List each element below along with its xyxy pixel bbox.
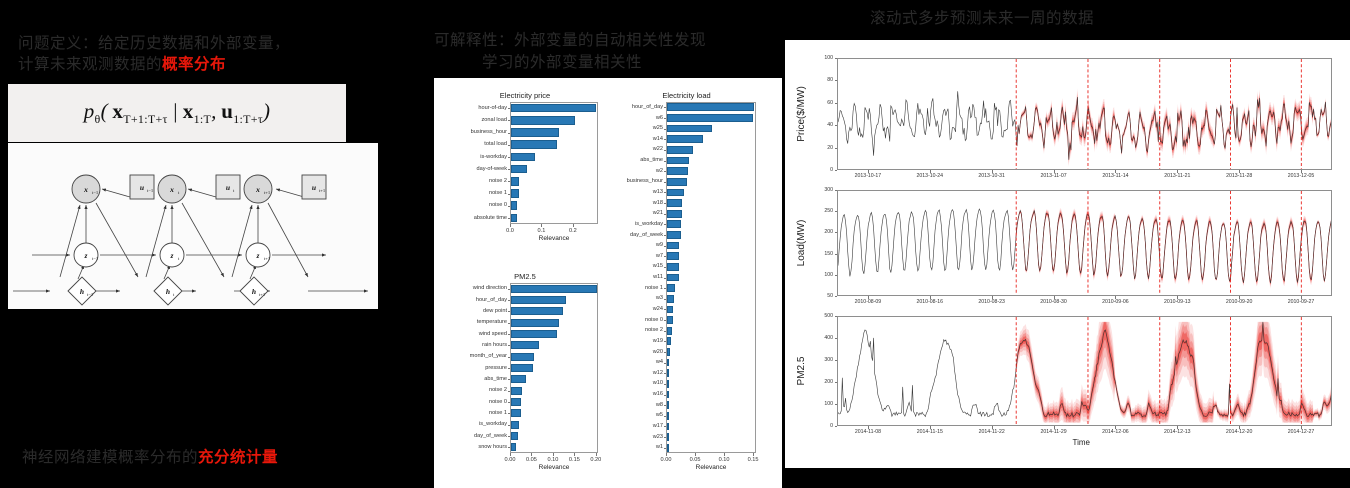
- y-tick-label: 80: [815, 77, 833, 83]
- category-label: absolute time: [452, 215, 507, 221]
- tick-mark: [835, 275, 838, 276]
- x-tick-label: 2014-11-29: [1034, 429, 1074, 435]
- bar: [511, 421, 519, 429]
- tick-mark: [508, 157, 510, 158]
- tick-mark: [835, 80, 838, 81]
- category-label: zonal load: [452, 117, 507, 123]
- tick-mark: [835, 254, 838, 255]
- relevance-panel: 可解释性：外部变量的自动相关性发现 学习的外部变量相关性 Electricity…: [420, 0, 785, 488]
- tick-mark: [664, 203, 666, 204]
- problem-definition-line2-highlight: 概率分布: [162, 56, 226, 73]
- sufficient-statistics-caption: 神经网络建模概率分布的充分统计量: [22, 447, 278, 468]
- tick-mark: [508, 402, 510, 403]
- category-label: w21: [617, 210, 663, 216]
- category-label: noise 0: [452, 202, 507, 208]
- bar: [667, 103, 754, 111]
- chart-title: Electricity price: [452, 91, 598, 100]
- category-label: rain hours: [452, 342, 507, 348]
- bar: [667, 412, 669, 420]
- problem-definition-line1: 问题定义：给定历史数据和外部变量，: [18, 33, 290, 54]
- tick-mark: [835, 316, 838, 317]
- category-label: w23: [617, 434, 663, 440]
- plot-area: [837, 316, 1332, 426]
- bar: [667, 231, 681, 239]
- problem-definition-line2-plain: 计算未来观测数据的: [18, 56, 162, 73]
- tick-mark: [664, 118, 666, 119]
- category-label: w18: [617, 200, 663, 206]
- tick-mark: [508, 447, 510, 448]
- x-tick-label: 0.05: [684, 457, 706, 463]
- tick-mark: [664, 373, 666, 374]
- tick-mark: [835, 190, 838, 191]
- tick-mark: [664, 192, 666, 193]
- category-label: noise 1: [452, 190, 507, 196]
- tick-mark: [835, 360, 838, 361]
- chart-title: PM2.5: [452, 272, 598, 281]
- category-label: w2: [617, 168, 663, 174]
- bar: [511, 319, 559, 327]
- tick-mark: [510, 453, 511, 456]
- tick-mark: [835, 103, 838, 104]
- bar: [511, 189, 519, 198]
- x-tick-label: 2010-09-06: [1095, 299, 1135, 305]
- bar: [511, 330, 557, 338]
- bar: [511, 177, 519, 186]
- bar: [511, 307, 563, 315]
- category-label: month_of_year: [452, 353, 507, 359]
- svg-text:t+1: t+1: [259, 292, 266, 297]
- x-tick-label: 2013-10-24: [910, 173, 950, 179]
- x-tick-label: 2014-11-15: [910, 429, 950, 435]
- category-label: is-workday: [452, 154, 507, 160]
- tick-mark: [508, 145, 510, 146]
- x-tick-label: 2013-11-28: [1219, 173, 1259, 179]
- relevance-charts-figure: Electricity pricehour-of-dayzonal loadbu…: [434, 78, 782, 488]
- bar: [511, 116, 575, 125]
- tick-mark: [664, 150, 666, 151]
- category-label: w25: [617, 125, 663, 131]
- y-axis-label: Price($/MW): [796, 86, 807, 142]
- bar: [667, 380, 669, 388]
- category-label: hour_of_day: [452, 297, 507, 303]
- bar: [667, 444, 669, 452]
- rolling-forecast-heading: 滚动式多步预测未来一周的数据: [870, 8, 1094, 29]
- tick-mark: [664, 384, 666, 385]
- category-label: noise 2: [452, 387, 507, 393]
- bar: [511, 296, 566, 304]
- y-tick-label: 20: [815, 145, 833, 151]
- x-tick-label: 2014-11-08: [848, 429, 888, 435]
- x-axis-label: Time: [1073, 438, 1090, 447]
- y-tick-label: 0: [815, 423, 833, 429]
- y-tick-label: 200: [815, 379, 833, 385]
- category-label: noise 1: [617, 285, 663, 291]
- tick-mark: [664, 352, 666, 353]
- tick-mark: [508, 108, 510, 109]
- svg-text:t+1: t+1: [319, 188, 326, 193]
- tick-mark: [508, 133, 510, 134]
- bar: [667, 316, 673, 324]
- bar: [667, 263, 679, 271]
- category-label: w16: [617, 391, 663, 397]
- category-label: w8: [617, 402, 663, 408]
- svg-text:u: u: [312, 183, 316, 192]
- bar: [667, 327, 672, 335]
- svg-text:x: x: [83, 185, 88, 194]
- y-axis-label: PM2.5: [796, 357, 807, 386]
- y-tick-label: 300: [815, 357, 833, 363]
- category-label: w12: [617, 370, 663, 376]
- category-label: abs_time: [617, 157, 663, 163]
- x-tick-label: 2014-12-20: [1219, 429, 1259, 435]
- x-tick-label: 0.15: [563, 457, 585, 463]
- bar: [667, 157, 689, 165]
- svg-text:h: h: [252, 287, 256, 296]
- plot-area: [837, 190, 1332, 296]
- category-label: snow hours: [452, 444, 507, 450]
- bar: [511, 398, 521, 406]
- bar: [511, 140, 557, 149]
- category-label: abs_time: [452, 376, 507, 382]
- tick-mark: [664, 309, 666, 310]
- category-label: w4: [617, 359, 663, 365]
- x-tick-label: 0.00: [499, 457, 521, 463]
- bar: [667, 295, 674, 303]
- x-tick-label: 2014-12-06: [1095, 429, 1135, 435]
- bar: [667, 189, 684, 197]
- tick-mark: [835, 426, 838, 427]
- tick-mark: [508, 218, 510, 219]
- tick-mark: [664, 405, 666, 406]
- tick-mark: [835, 58, 838, 59]
- bar: [667, 391, 669, 399]
- tick-mark: [835, 232, 838, 233]
- category-label: w10: [617, 380, 663, 386]
- tick-mark: [835, 296, 838, 297]
- formula-image: pθ( xT+1:T+τ | x1:T, u1:T+τ): [8, 84, 346, 142]
- tick-mark: [664, 278, 666, 279]
- category-label: w22: [617, 146, 663, 152]
- x-tick-label: 0.0: [499, 228, 521, 234]
- x-tick-label: 0.00: [655, 457, 677, 463]
- x-axis-label: Relevance: [510, 464, 598, 471]
- bar: [667, 199, 682, 207]
- svg-text:h: h: [166, 287, 170, 296]
- category-label: noise 2: [617, 327, 663, 333]
- category-label: pressure: [452, 365, 507, 371]
- tick-mark: [664, 363, 666, 364]
- bar: [511, 341, 539, 349]
- bar: [667, 135, 703, 143]
- problem-definition-text: 问题定义：给定历史数据和外部变量， 计算未来观测数据的概率分布: [18, 33, 290, 75]
- y-axis-label: Load(MW): [796, 220, 807, 267]
- graphical-model-svg: xxx zzz hhh uuu t−1tt+1 t−1tt+1 t−1tt+1 …: [8, 143, 378, 309]
- category-label: total load: [452, 141, 507, 147]
- tick-mark: [664, 320, 666, 321]
- bar: [511, 153, 535, 162]
- bar: [667, 369, 669, 377]
- category-label: is_workday: [617, 221, 663, 227]
- category-label: noise 0: [452, 399, 507, 405]
- tick-mark: [508, 289, 510, 290]
- tick-mark: [664, 437, 666, 438]
- tick-mark: [553, 453, 554, 456]
- svg-text:u: u: [226, 183, 230, 192]
- y-tick-label: 400: [815, 335, 833, 341]
- bar: [511, 432, 518, 440]
- tick-mark: [573, 224, 574, 227]
- tick-mark: [664, 235, 666, 236]
- tick-mark: [695, 453, 696, 456]
- tick-mark: [664, 267, 666, 268]
- category-label: is_workday: [452, 421, 507, 427]
- category-label: day_of_week: [617, 232, 663, 238]
- bar: [667, 359, 669, 367]
- bar: [667, 401, 669, 409]
- y-tick-label: 100: [815, 55, 833, 61]
- bar: [667, 284, 675, 292]
- category-label: hour_of_day: [617, 104, 663, 110]
- plot-area: [666, 102, 756, 453]
- bar: [511, 285, 597, 293]
- tick-mark: [508, 345, 510, 346]
- x-tick-label: 2013-11-21: [1157, 173, 1197, 179]
- x-tick-label: 2014-12-13: [1157, 429, 1197, 435]
- bar: [667, 125, 712, 133]
- tick-mark: [835, 404, 838, 405]
- x-tick-label: 2013-10-17: [848, 173, 888, 179]
- series-svg: [838, 59, 1332, 170]
- caption-plain: 神经网络建模概率分布的: [22, 449, 198, 466]
- tick-mark: [835, 382, 838, 383]
- svg-text:h: h: [80, 287, 84, 296]
- tick-mark: [596, 453, 597, 456]
- category-label: day-of-week: [452, 166, 507, 172]
- tick-mark: [664, 171, 666, 172]
- tick-mark: [508, 120, 510, 121]
- category-label: noise 1: [452, 410, 507, 416]
- tick-mark: [664, 416, 666, 417]
- category-label: temperature: [452, 319, 507, 325]
- category-label: w6: [617, 115, 663, 121]
- category-label: noise 2: [452, 178, 507, 184]
- x-tick-label: 0.2: [562, 228, 584, 234]
- tick-mark: [664, 288, 666, 289]
- x-tick-label: 2014-12-27: [1281, 429, 1321, 435]
- category-label: wind speed: [452, 331, 507, 337]
- y-tick-label: 60: [815, 100, 833, 106]
- category-label: wind direction: [452, 285, 507, 291]
- tick-mark: [508, 368, 510, 369]
- tick-mark: [664, 341, 666, 342]
- y-tick-label: 0: [815, 167, 833, 173]
- x-tick-label: 0.05: [520, 457, 542, 463]
- svg-text:t+1: t+1: [264, 190, 271, 195]
- problem-definition-line2: 计算未来观测数据的概率分布: [18, 54, 290, 75]
- y-tick-label: 300: [815, 187, 833, 193]
- tick-mark: [508, 300, 510, 301]
- bar: [511, 443, 516, 451]
- svg-text:t−1: t−1: [87, 292, 94, 297]
- x-tick-label: 2010-08-09: [848, 299, 888, 305]
- tick-mark: [664, 139, 666, 140]
- category-label: w11: [617, 274, 663, 280]
- category-label: business_hour: [452, 129, 507, 135]
- x-axis-label: Relevance: [666, 464, 756, 471]
- x-tick-label: 2013-10-31: [972, 173, 1012, 179]
- svg-text:z: z: [84, 251, 88, 260]
- x-tick-label: 2010-08-23: [972, 299, 1012, 305]
- bar: [511, 214, 517, 223]
- svg-text:x: x: [255, 185, 260, 194]
- category-label: w19: [617, 338, 663, 344]
- tick-mark: [835, 338, 838, 339]
- y-tick-label: 500: [815, 313, 833, 319]
- probability-formula: pθ( xT+1:T+τ | x1:T, u1:T+τ): [84, 99, 271, 127]
- category-label: w24: [617, 306, 663, 312]
- bar: [511, 364, 533, 372]
- forecast-charts-figure: 0204060801002013-10-172013-10-242013-10-…: [785, 40, 1350, 468]
- svg-text:t−1: t−1: [92, 190, 99, 195]
- series-svg: [838, 191, 1332, 296]
- tick-mark: [664, 224, 666, 225]
- tick-mark: [835, 170, 838, 171]
- category-label: w14: [617, 136, 663, 142]
- y-tick-label: 100: [815, 272, 833, 278]
- bar: [511, 409, 521, 417]
- x-tick-label: 2010-08-16: [910, 299, 950, 305]
- tick-mark: [508, 206, 510, 207]
- tick-mark: [664, 182, 666, 183]
- bar: [667, 423, 669, 431]
- problem-definition-panel: 问题定义：给定历史数据和外部变量， 计算未来观测数据的概率分布 pθ( xT+1…: [0, 0, 420, 488]
- bar: [667, 252, 679, 260]
- category-label: w3: [617, 295, 663, 301]
- interpretability-heading: 可解释性：外部变量的自动相关性发现: [434, 30, 706, 51]
- bar: [667, 114, 753, 122]
- bar: [667, 274, 679, 282]
- tick-mark: [664, 129, 666, 130]
- tick-mark: [508, 181, 510, 182]
- bar: [511, 128, 559, 137]
- series-svg: [838, 317, 1332, 426]
- bar: [667, 433, 669, 441]
- category-label: w13: [617, 189, 663, 195]
- bar: [511, 375, 526, 383]
- tick-mark: [508, 436, 510, 437]
- x-tick-label: 0.10: [542, 457, 564, 463]
- chart-title: Electricity load: [617, 91, 756, 100]
- y-tick-label: 40: [815, 122, 833, 128]
- observed-line: [838, 91, 1332, 159]
- tick-mark: [664, 299, 666, 300]
- category-label: business_hour: [617, 178, 663, 184]
- tick-mark: [664, 246, 666, 247]
- svg-text:t−1: t−1: [92, 256, 99, 261]
- tick-mark: [508, 391, 510, 392]
- tick-mark: [664, 107, 666, 108]
- x-tick-label: 0.20: [585, 457, 607, 463]
- category-label: dew point: [452, 308, 507, 314]
- bar: [667, 167, 688, 175]
- tick-mark: [508, 413, 510, 414]
- bar: [511, 387, 522, 395]
- graphical-model-figure: xxx zzz hhh uuu t−1tt+1 t−1tt+1 t−1tt+1 …: [8, 143, 378, 309]
- tick-mark: [508, 323, 510, 324]
- category-label: w9: [617, 242, 663, 248]
- svg-text:u: u: [140, 183, 144, 192]
- y-tick-label: 250: [815, 208, 833, 214]
- x-tick-label: 2010-09-13: [1157, 299, 1197, 305]
- category-label: w5: [617, 412, 663, 418]
- bar: [667, 242, 679, 250]
- x-tick-label: 2013-11-07: [1034, 173, 1074, 179]
- tick-mark: [753, 453, 754, 456]
- bar: [667, 348, 670, 356]
- x-tick-label: 0.1: [530, 228, 552, 234]
- category-label: w20: [617, 349, 663, 355]
- category-label: noise 0: [617, 317, 663, 323]
- x-tick-label: 2010-09-27: [1281, 299, 1321, 305]
- tick-mark: [531, 453, 532, 456]
- x-tick-label: 2010-09-20: [1219, 299, 1259, 305]
- plot-area: [837, 58, 1332, 170]
- tick-mark: [664, 214, 666, 215]
- caption-highlight: 充分统计量: [198, 449, 278, 466]
- bar: [667, 220, 681, 228]
- bar: [667, 210, 682, 218]
- tick-mark: [666, 453, 667, 456]
- bar: [511, 353, 534, 361]
- tick-mark: [664, 448, 666, 449]
- x-axis-label: Relevance: [510, 235, 598, 242]
- tick-mark: [541, 224, 542, 227]
- tick-mark: [508, 425, 510, 426]
- tick-mark: [508, 379, 510, 380]
- category-label: w7: [617, 253, 663, 259]
- tick-mark: [510, 224, 511, 227]
- x-tick-label: 2013-12-05: [1281, 173, 1321, 179]
- tick-mark: [835, 125, 838, 126]
- tick-mark: [724, 453, 725, 456]
- bar: [511, 165, 527, 174]
- svg-text:x: x: [169, 185, 174, 194]
- interpretability-subheading: 学习的外部变量相关性: [482, 52, 642, 73]
- category-label: w15: [617, 263, 663, 269]
- tick-mark: [508, 311, 510, 312]
- bar: [511, 104, 596, 113]
- forecast-panel: 滚动式多步预测未来一周的数据 0204060801002013-10-17201…: [785, 0, 1350, 488]
- tick-mark: [664, 395, 666, 396]
- svg-text:z: z: [170, 251, 174, 260]
- x-tick-label: 0.10: [713, 457, 735, 463]
- x-tick-label: 2014-11-22: [972, 429, 1012, 435]
- bar: [667, 306, 673, 314]
- observed-line: [838, 209, 1332, 283]
- tick-mark: [664, 426, 666, 427]
- tick-mark: [508, 169, 510, 170]
- tick-mark: [664, 256, 666, 257]
- tick-mark: [664, 331, 666, 332]
- bar: [667, 146, 693, 154]
- category-label: hour-of-day: [452, 105, 507, 111]
- category-label: day_of_week: [452, 433, 507, 439]
- x-tick-label: 0.15: [742, 457, 764, 463]
- category-label: w17: [617, 423, 663, 429]
- tick-mark: [508, 357, 510, 358]
- svg-text:z: z: [256, 251, 260, 260]
- bar: [667, 337, 671, 345]
